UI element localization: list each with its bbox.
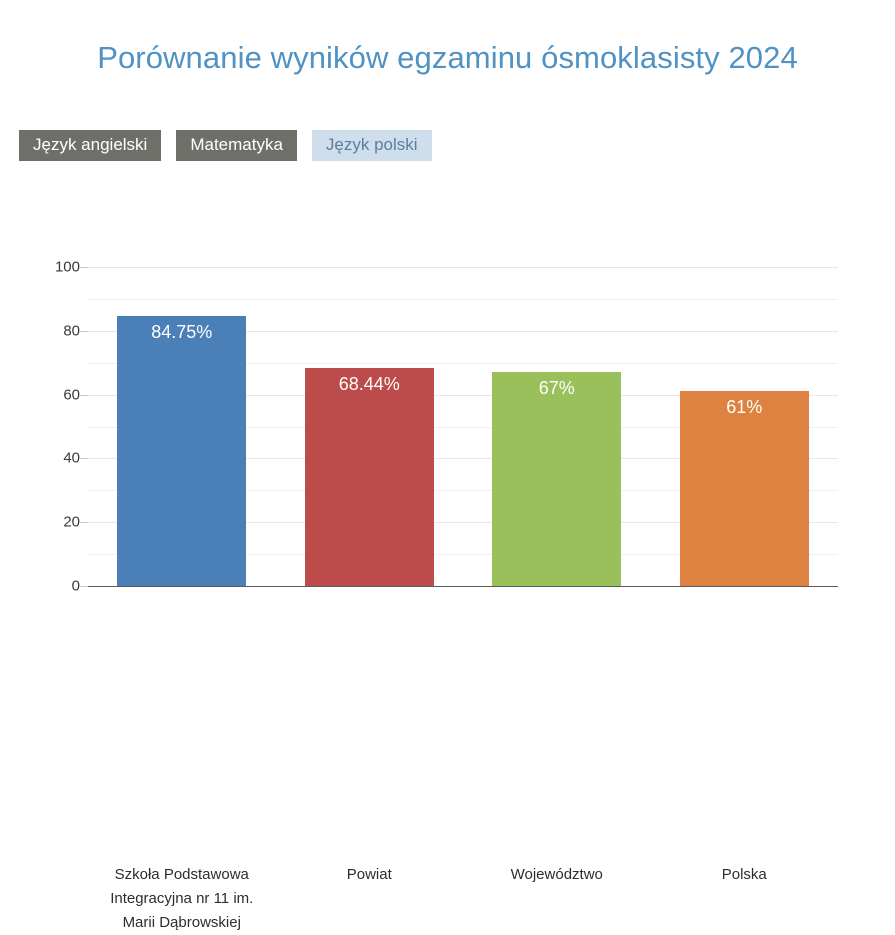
bar-value-label: 67%: [492, 378, 621, 399]
x-axis-category-label: Województwo: [471, 863, 643, 887]
bar[interactable]: 68.44%: [305, 368, 434, 586]
y-axis-tick: [80, 267, 88, 268]
y-axis-tick-label: 40: [24, 450, 80, 467]
bar-value-label: 84.75%: [117, 322, 246, 343]
y-axis-tick-label: 0: [24, 578, 80, 595]
y-axis-tick: [80, 586, 88, 587]
x-axis-category-label: Polska: [659, 863, 831, 887]
y-axis-tick-label: 60: [24, 386, 80, 403]
bar-value-label: 61%: [680, 397, 809, 418]
y-axis-tick: [80, 395, 88, 396]
gridline-minor: [88, 299, 838, 300]
y-axis-labels: 020406080100: [16, 267, 80, 586]
plot-area: 84.75%Szkoła Podstawowa Integracyjna nr …: [88, 267, 838, 586]
bar[interactable]: 84.75%: [117, 316, 246, 586]
bar[interactable]: 67%: [492, 372, 621, 586]
y-axis-tick-label: 20: [24, 514, 80, 531]
bar[interactable]: 61%: [680, 391, 809, 586]
gridline-major: [88, 267, 838, 268]
y-axis-tick: [80, 331, 88, 332]
x-axis-line: [88, 586, 838, 587]
y-axis-tick-label: 100: [24, 259, 80, 276]
x-axis-category-label: Powiat: [284, 863, 456, 887]
y-axis-tick: [80, 522, 88, 523]
y-axis-tick: [80, 458, 88, 459]
bar-value-label: 68.44%: [305, 374, 434, 395]
x-axis-category-label: Szkoła Podstawowa Integracyjna nr 11 im.…: [96, 863, 268, 935]
bar-chart: 020406080100 84.75%Szkoła Podstawowa Int…: [0, 0, 895, 697]
y-axis-tick-label: 80: [24, 322, 80, 339]
